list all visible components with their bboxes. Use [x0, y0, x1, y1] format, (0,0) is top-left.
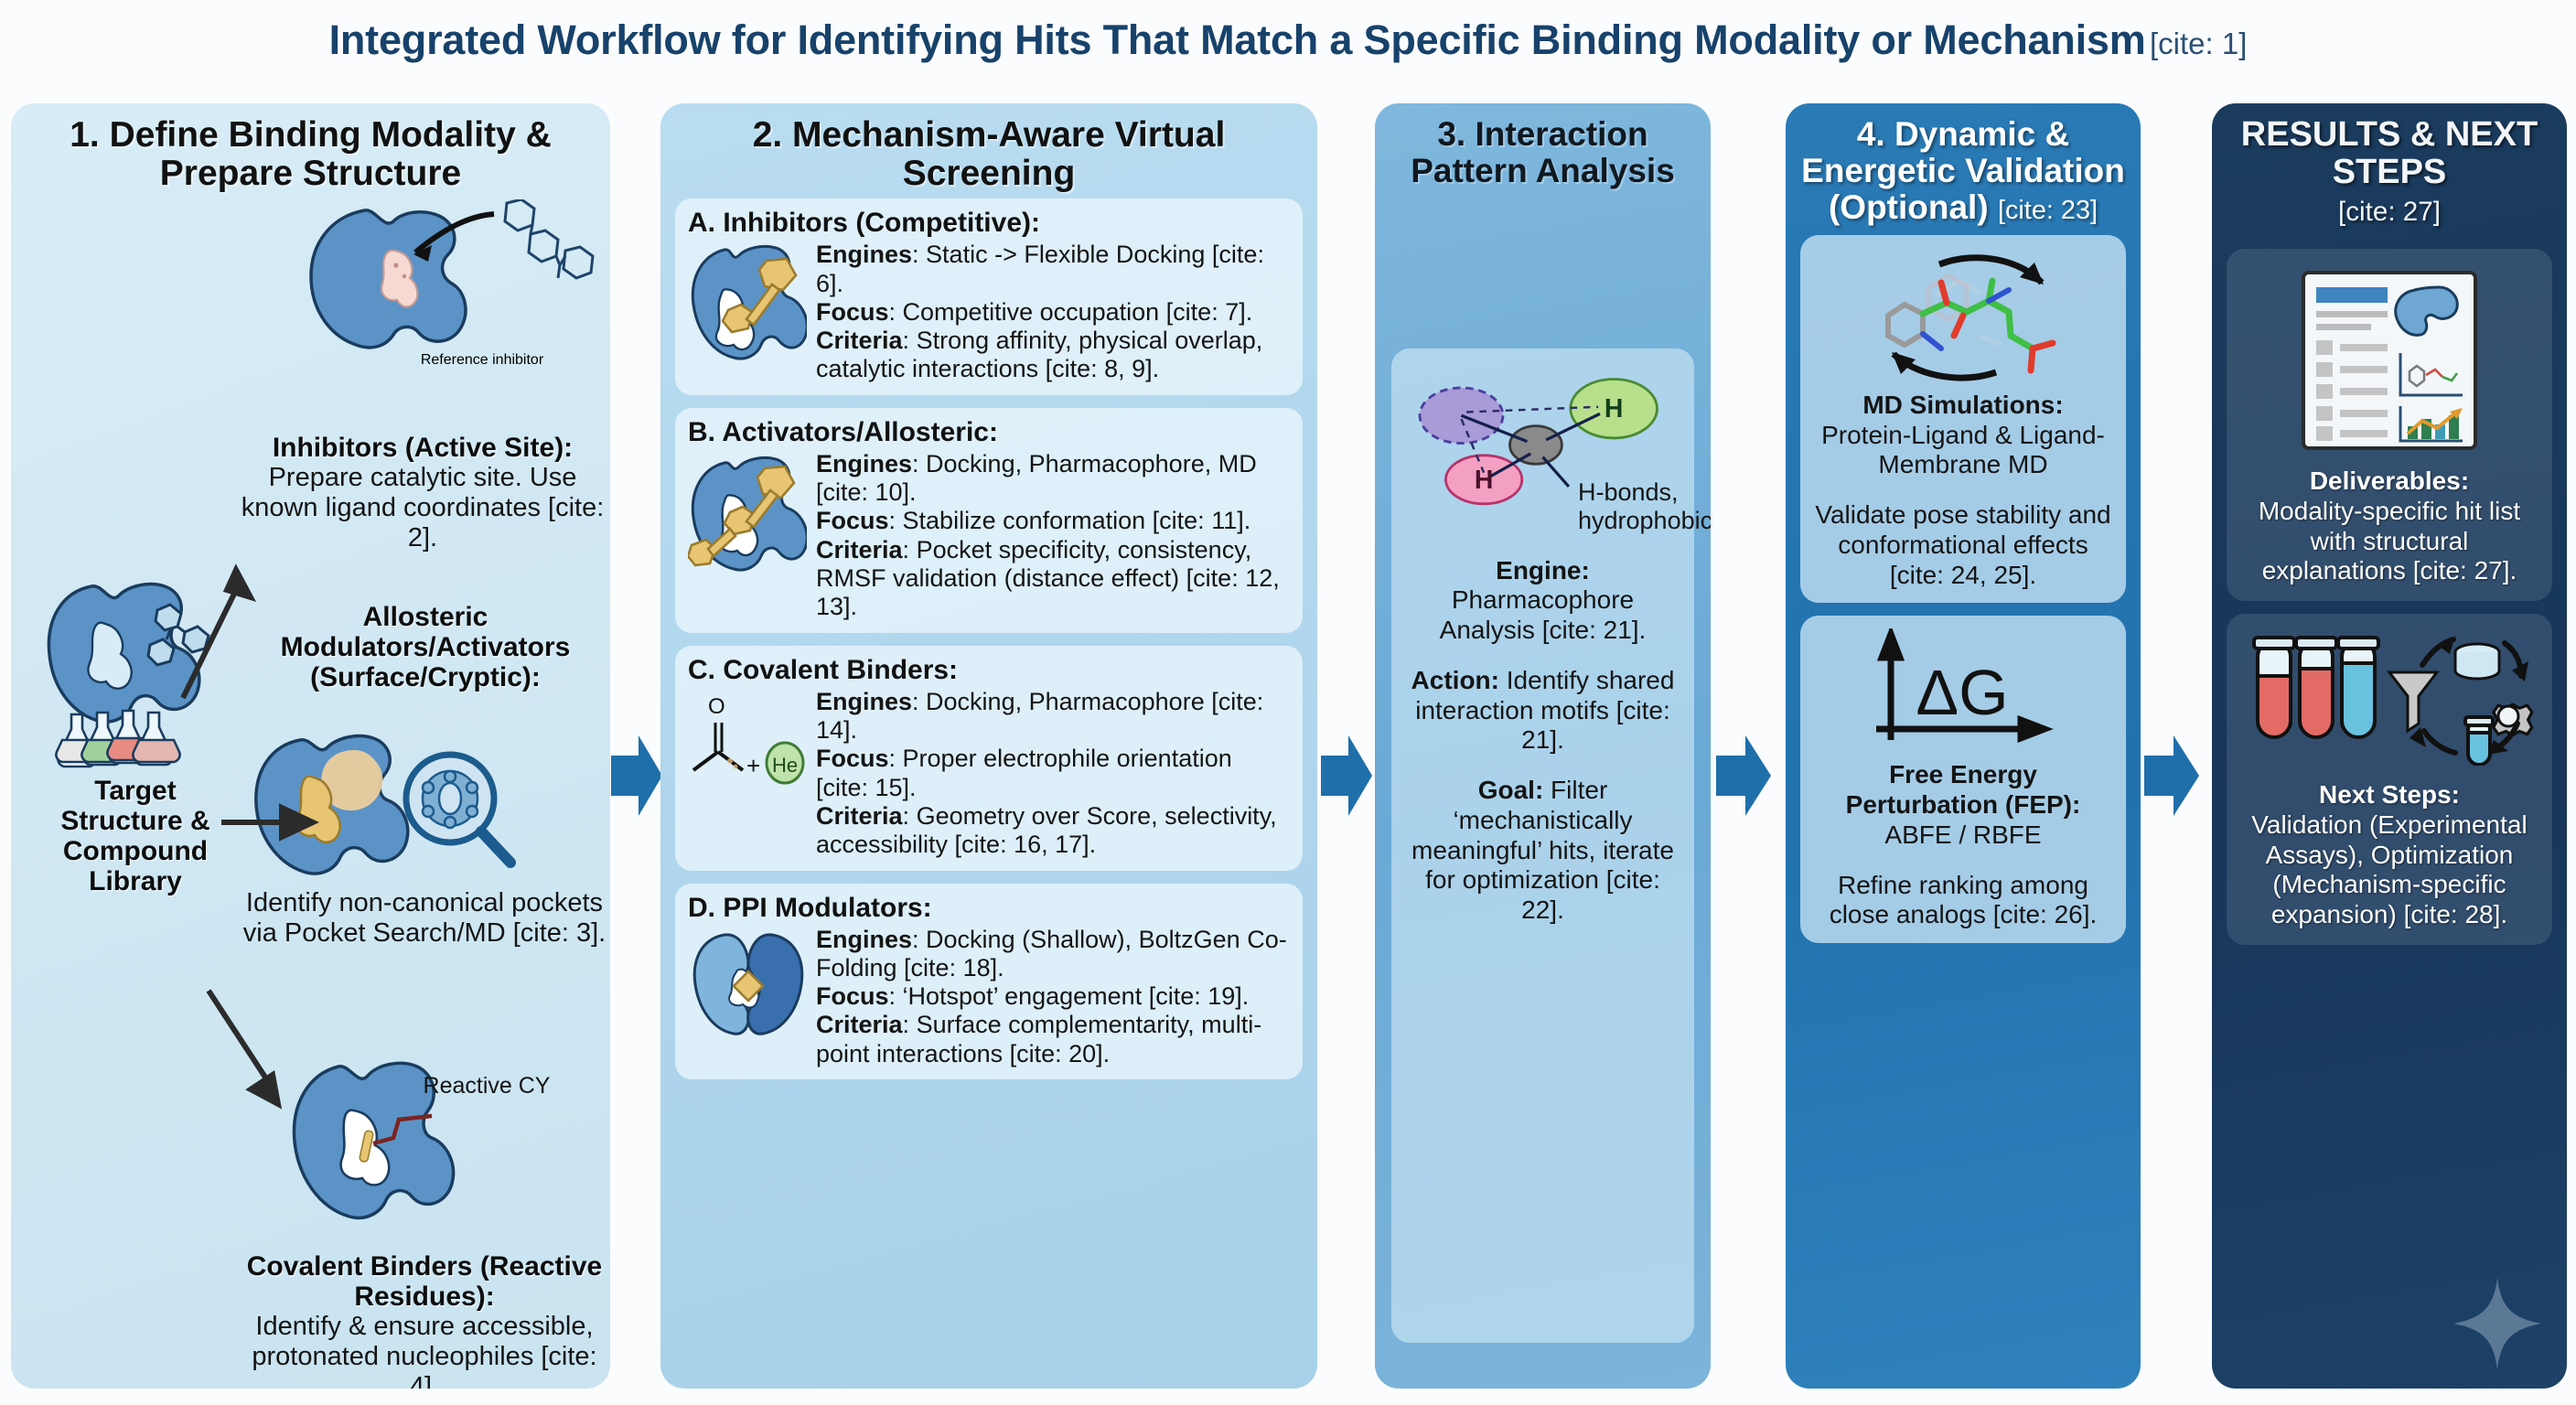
card-activators-allosteric[interactable]: B. Activators/Allosteric:: [675, 408, 1303, 633]
card-c-lines: Engines: Docking, Pharmacophore [cite: 1…: [816, 688, 1290, 860]
card-b-engines-label: Engines: [816, 450, 912, 477]
arrow-step2-to-step3: [1321, 732, 1372, 824]
arrow-step1-to-step2: [611, 732, 662, 824]
workflow-diagram: Integrated Workflow for Identifying Hits…: [0, 0, 2576, 1405]
deliverables-body: Modality-specific hit list with structur…: [2239, 497, 2539, 586]
md-simulations-body: Validate pose stability and conformation…: [1811, 500, 2115, 590]
step-2-heading: 2. Mechanism-Aware Virtual Screening: [675, 116, 1303, 193]
card-a-engines-label: Engines: [816, 241, 912, 268]
deliverables-title: Deliverables:: [2310, 467, 2469, 495]
card-a-criteria-label: Criteria: [816, 327, 903, 354]
test-tubes-cycle-icon: [2239, 628, 2539, 766]
inhibitors-active-site-body: Prepare catalytic site. Use known ligand…: [240, 463, 606, 552]
allosteric-modulators-body: Identify non-canonical pockets via Pocke…: [241, 888, 607, 949]
reference-inhibitor-label: Reference inhibitor: [386, 352, 578, 369]
diagram-title-citation: [cite: 1]: [2150, 27, 2247, 60]
card-b-criteria-label: Criteria: [816, 536, 903, 563]
card-free-energy-perturbation[interactable]: ΔG Free Energy Perturbation (FEP): ABFE …: [1800, 616, 2126, 943]
card-d-lines: Engines: Docking (Shallow), BoltzGen Co-…: [816, 926, 1290, 1069]
sparkle-icon: [2453, 1278, 2541, 1374]
card-a-lines: Engines: Static -> Flexible Docking [cit…: [816, 241, 1290, 384]
card-ppi-modulators[interactable]: D. PPI Modulators: Engines: Docking (Sha…: [675, 884, 1303, 1080]
covalent-binders-heading: Covalent Binders (Reactive Residues):: [241, 1251, 607, 1312]
report-document-icon: [2239, 263, 2539, 457]
step-1-heading: 1. Define Binding Modality & Prepare Str…: [26, 116, 596, 193]
card-d-title: D. PPI Modulators:: [688, 893, 1290, 924]
delta-g-axes-icon: ΔG: [1811, 628, 2115, 756]
md-simulations-title: MD Simulations:: [1862, 391, 2063, 419]
results-heading: RESULTS & NEXT STEPS [cite: 27]: [2227, 116, 2552, 229]
reactive-cy-label-wrap: Reactive CY: [395, 1073, 578, 1099]
interaction-pattern-card[interactable]: H H H-bonds, hydrophobic Engine: Pharmac…: [1391, 349, 1694, 1343]
step-3-heading: 3. Interaction Pattern Analysis: [1390, 116, 1696, 189]
action-label: Action:: [1411, 666, 1499, 694]
protein-protein-interface-icon: [688, 926, 807, 1044]
card-c-focus-label: Focus: [816, 745, 889, 772]
step-4-heading: 4. Dynamic & Energetic Validation (Optio…: [1800, 116, 2126, 226]
target-library-label: Target Structure & Compound Library: [31, 776, 240, 896]
fep-title: Free Energy Perturbation (FEP):: [1846, 760, 2081, 819]
goal-text: Filter ‘mechanistically meaningful’ hits…: [1411, 776, 1674, 924]
card-c-engines-label: Engines: [816, 688, 912, 715]
inhibitor-active-site-illustration: [278, 199, 598, 378]
card-d-criteria-label: Criteria: [816, 1011, 903, 1038]
card-b-focus-text: Stabilize conformation [cite: 11].: [903, 507, 1251, 534]
covalent-binders-body: Identify & ensure accessible, protonated…: [241, 1312, 607, 1389]
engine-paragraph: Engine: Pharmacophore Analysis [cite: 21…: [1404, 556, 1681, 646]
step-4-panel[interactable]: 4. Dynamic & Energetic Validation (Optio…: [1786, 103, 2141, 1389]
arrow-step4-to-results: [2144, 732, 2199, 824]
node-green-label: H: [1605, 394, 1624, 424]
card-covalent-binders[interactable]: C. Covalent Binders: O + He: [675, 646, 1303, 871]
engine-text: Pharmacophore Analysis [cite: 21].: [1440, 585, 1647, 644]
step-2-panel[interactable]: 2. Mechanism-Aware Virtual Screening A. …: [660, 103, 1317, 1389]
card-d-focus-text: ‘Hotspot’ engagement [cite: 19].: [903, 982, 1250, 1010]
card-d-engines-label: Engines: [816, 926, 912, 953]
delta-g-label: ΔG: [1916, 657, 2008, 728]
protein-with-ligand-icon: [688, 241, 807, 370]
card-b-focus-label: Focus: [816, 507, 889, 534]
protein-two-ligands-icon: [688, 450, 807, 579]
goal-label: Goal:: [1478, 776, 1544, 804]
covalent-binders-block: Covalent Binders (Reactive Residues): Id…: [241, 1251, 607, 1389]
next-steps-body: Validation (Experimental Assays), Optimi…: [2239, 810, 2539, 930]
target-library-label-wrap: Target Structure & Compound Library: [31, 776, 240, 896]
card-b-lines: Engines: Docking, Pharmacophore, MD [cit…: [816, 450, 1290, 622]
next-steps-title: Next Steps:: [2319, 780, 2460, 809]
allosteric-pocket-illustration: [247, 733, 521, 893]
diagram-title: Integrated Workflow for Identifying Hits…: [0, 16, 2576, 64]
arrow-step3-to-step4: [1716, 732, 1771, 824]
card-b-title: B. Activators/Allosteric:: [688, 417, 1290, 448]
node-pink-label: H: [1475, 466, 1494, 495]
engine-label: Engine:: [1496, 556, 1590, 585]
inhibitors-active-site-heading: Inhibitors (Active Site):: [240, 433, 606, 463]
md-simulations-subtitle: Protein-Ligand & Ligand-Membrane MD: [1811, 421, 2115, 481]
results-heading-text: RESULTS & NEXT STEPS: [2241, 115, 2538, 191]
step-4-heading-citation: [cite: 23]: [1998, 196, 2098, 225]
card-deliverables[interactable]: Deliverables: Modality-specific hit list…: [2227, 249, 2552, 601]
target-structure-library-illustration: [38, 579, 235, 785]
step-1-panel[interactable]: 1. Define Binding Modality & Prepare Str…: [11, 103, 610, 1389]
action-paragraph: Action: Identify shared interaction moti…: [1404, 666, 1681, 756]
step-3-panel[interactable]: 3. Interaction Pattern Analysis: [1375, 103, 1711, 1389]
card-inhibitors-competitive[interactable]: A. Inhibitors (Competitive): Engines:: [675, 198, 1303, 395]
card-a-title: A. Inhibitors (Competitive):: [688, 208, 1290, 239]
results-heading-citation: [cite: 27]: [2338, 197, 2441, 227]
inhibitors-active-site-block: Inhibitors (Active Site): Prepare cataly…: [240, 433, 606, 552]
card-next-steps[interactable]: Next Steps: Validation (Experimental Ass…: [2227, 614, 2552, 945]
fep-subtitle: ABFE / RBFE: [1811, 820, 2115, 851]
card-md-simulations[interactable]: MD Simulations: Protein-Ligand & Ligand-…: [1800, 235, 2126, 604]
diagram-title-text: Integrated Workflow for Identifying Hits…: [329, 16, 2146, 63]
md-molecule-rotation-icon: [1811, 248, 2115, 385]
svg-text:+: +: [746, 752, 760, 779]
goal-paragraph: Goal: Filter ‘mechanistically meaningful…: [1404, 776, 1681, 926]
carbonyl-oxygen-label: O: [708, 694, 725, 719]
card-a-focus-text: Competitive occupation [cite: 7].: [903, 298, 1253, 326]
nucleophile-label: He: [772, 754, 798, 777]
results-panel[interactable]: RESULTS & NEXT STEPS [cite: 27]: [2212, 103, 2567, 1389]
card-a-focus-label: Focus: [816, 298, 889, 326]
reactive-cy-label: Reactive CY: [395, 1073, 578, 1099]
allosteric-modulators-heading: Allosteric Modulators/Activators (Surfac…: [238, 602, 610, 692]
allosteric-body-wrap: Identify non-canonical pockets via Pocke…: [241, 888, 607, 949]
card-c-criteria-label: Criteria: [816, 802, 903, 830]
card-c-title: C. Covalent Binders:: [688, 655, 1290, 686]
allosteric-block-heading-wrap: Allosteric Modulators/Activators (Surfac…: [238, 602, 610, 692]
fep-body: Refine ranking among close analogs [cite…: [1811, 871, 2115, 931]
electrophile-plus-nucleophile-icon: O + He: [688, 688, 807, 806]
card-d-focus-label: Focus: [816, 982, 889, 1010]
